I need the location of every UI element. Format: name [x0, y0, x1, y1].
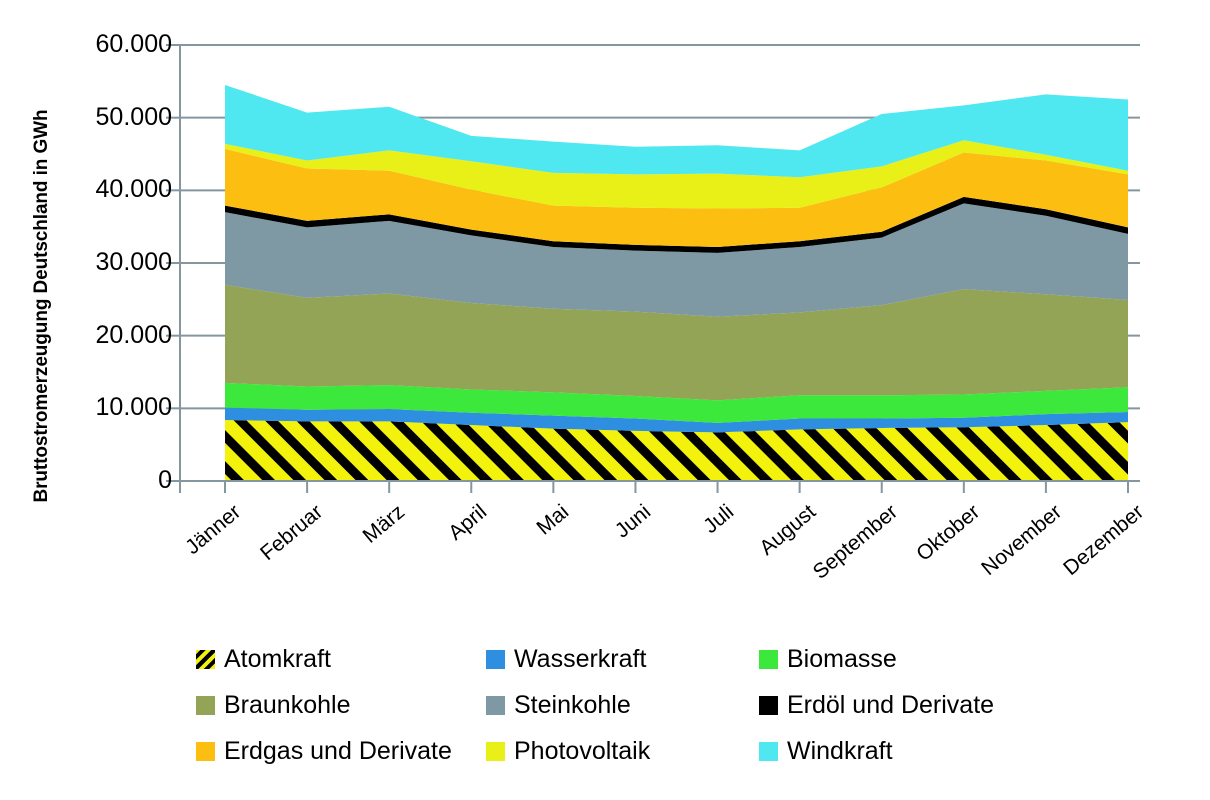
legend-item-photovoltaik[interactable]: Photovoltaik [486, 739, 759, 764]
x-tick-label-4: Mai [533, 501, 572, 539]
legend-row: BraunkohleSteinkohleErdöl und Derivate [196, 682, 1156, 728]
legend-swatch-icon [486, 696, 505, 715]
x-tick-label-10: November [978, 501, 1066, 579]
legend-label: Erdgas und Derivate [224, 739, 452, 764]
legend-item-biomasse[interactable]: Biomasse [759, 647, 897, 672]
legend-swatch-icon [196, 742, 215, 761]
stacked-area-chart: Bruttostromerzeugung Deutschland in GWh … [0, 0, 1210, 800]
legend-item-windkraft[interactable]: Windkraft [759, 739, 893, 764]
legend-row: Erdgas und DerivatePhotovoltaikWindkraft [196, 728, 1156, 774]
legend-label: Photovoltaik [514, 739, 650, 764]
x-tick-label-0: Jänner [182, 501, 245, 558]
legend-item-wasserkraft[interactable]: Wasserkraft [486, 647, 759, 672]
x-tick-label-7: August [756, 501, 820, 559]
x-tick-label-5: Juni [612, 501, 655, 542]
x-tick-label-8: September [809, 501, 901, 583]
legend-swatch-icon [196, 650, 215, 669]
legend-swatch-icon [196, 696, 215, 715]
x-tick-label-2: März [359, 501, 408, 547]
legend-label: Braunkohle [224, 693, 350, 718]
x-tick-label-9: Oktober [913, 501, 984, 565]
legend-label: Windkraft [787, 739, 893, 764]
legend-label: Wasserkraft [514, 647, 646, 672]
x-tick-label-11: Dezember [1060, 501, 1148, 579]
legend-item-erdgas-und-derivate[interactable]: Erdgas und Derivate [196, 739, 486, 764]
legend-item-erd-l-und-derivate[interactable]: Erdöl und Derivate [759, 693, 994, 718]
legend-item-atomkraft[interactable]: Atomkraft [196, 647, 486, 672]
legend-label: Atomkraft [224, 647, 331, 672]
legend-swatch-icon [486, 650, 505, 669]
x-tick-label-3: April [445, 501, 491, 544]
legend-swatch-icon [759, 742, 778, 761]
legend-item-steinkohle[interactable]: Steinkohle [486, 693, 759, 718]
legend-label: Biomasse [787, 647, 897, 672]
chart-legend: AtomkraftWasserkraftBiomasseBraunkohleSt… [196, 636, 1156, 774]
legend-item-braunkohle[interactable]: Braunkohle [196, 693, 486, 718]
legend-swatch-icon [759, 696, 778, 715]
legend-label: Steinkohle [514, 693, 631, 718]
x-tick-label-6: Juli [699, 501, 737, 537]
x-tick-label-1: Februar [257, 501, 327, 564]
legend-row: AtomkraftWasserkraftBiomasse [196, 636, 1156, 682]
legend-label: Erdöl und Derivate [787, 693, 994, 718]
legend-swatch-icon [759, 650, 778, 669]
legend-swatch-icon [486, 742, 505, 761]
